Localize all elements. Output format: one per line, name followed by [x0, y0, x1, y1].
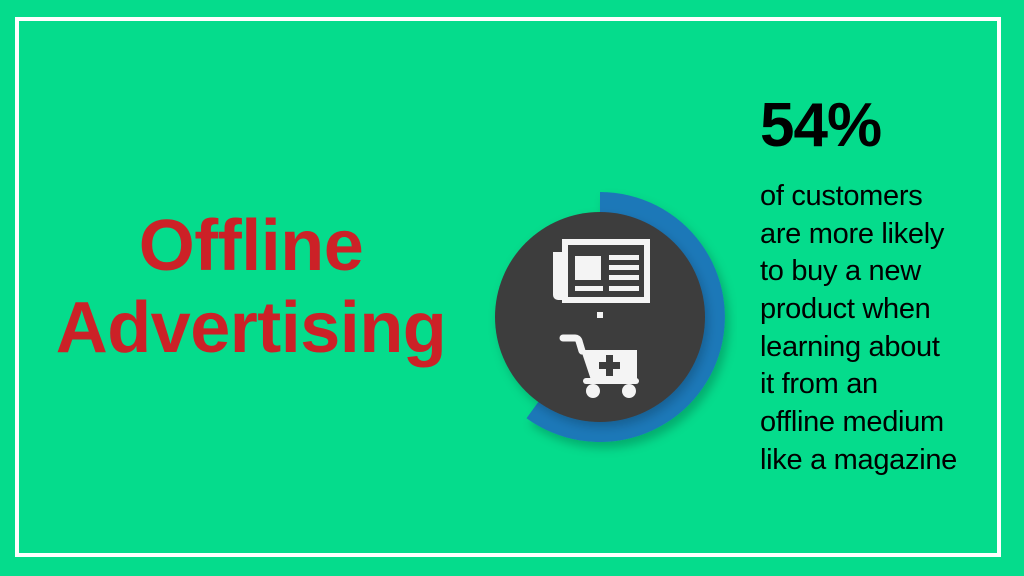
stat-description-line: to buy a new — [760, 253, 1005, 291]
stat-value: 54% — [760, 95, 1005, 157]
stat-description: of customers are more likely to buy a ne… — [760, 178, 1005, 480]
stat-description-line: offline medium — [760, 404, 1005, 442]
page-title: Offline Advertising — [36, 205, 466, 369]
donut-chart-graphic — [465, 175, 737, 465]
stat-description-line: are more likely — [760, 216, 1005, 254]
stat-description-line: product when — [760, 291, 1005, 329]
stat-description-line: it from an — [760, 366, 1005, 404]
title-line-1: Offline — [36, 205, 466, 287]
dot-separator-icon — [597, 312, 603, 318]
stat-description-line: like a magazine — [760, 442, 1005, 480]
statistic-block: 54% of customers are more likely to buy … — [760, 95, 1005, 480]
stat-description-line: of customers — [760, 178, 1005, 216]
stat-description-line: learning about — [760, 329, 1005, 367]
infographic-slide: Offline Advertising — [0, 0, 1024, 576]
title-line-2: Advertising — [36, 287, 466, 369]
